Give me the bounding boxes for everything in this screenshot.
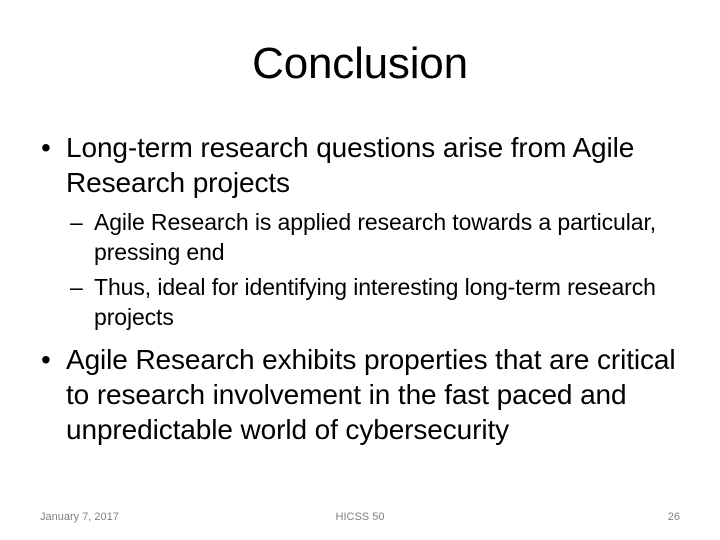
bullet-text-1: Long-term research questions arise from … (66, 132, 634, 198)
sub-bullet-item-1-1: – Agile Research is applied research tow… (70, 207, 696, 267)
footer-date: January 7, 2017 (40, 510, 119, 524)
dash-icon: – (70, 207, 83, 237)
sub-bullet-item-1-2: – Thus, ideal for identifying interestin… (70, 272, 696, 332)
footer-page-number: 26 (668, 510, 680, 524)
body-spacer (36, 332, 696, 342)
dash-icon: – (70, 272, 83, 302)
sub-bullet-text-1-1: Agile Research is applied research towar… (94, 209, 656, 265)
sub-bullet-text-1-2: Thus, ideal for identifying interesting … (94, 274, 656, 330)
bullet-item-2: • Agile Research exhibits properties tha… (36, 342, 696, 447)
bullet-item-1: • Long-term research questions arise fro… (36, 130, 696, 200)
bullet-text-2: Agile Research exhibits properties that … (66, 344, 676, 445)
slide-body: • Long-term research questions arise fro… (36, 130, 696, 447)
slide-canvas: Conclusion • Long-term research question… (0, 0, 720, 540)
bullet-dot-icon: • (41, 130, 51, 165)
slide-footer: January 7, 2017 HICSS 50 26 (0, 500, 720, 540)
footer-conference-name: HICSS 50 (260, 510, 460, 524)
bullet-dot-icon: • (41, 342, 51, 377)
slide-title: Conclusion (0, 38, 720, 90)
sub-bullet-group-1: – Agile Research is applied research tow… (36, 207, 696, 332)
